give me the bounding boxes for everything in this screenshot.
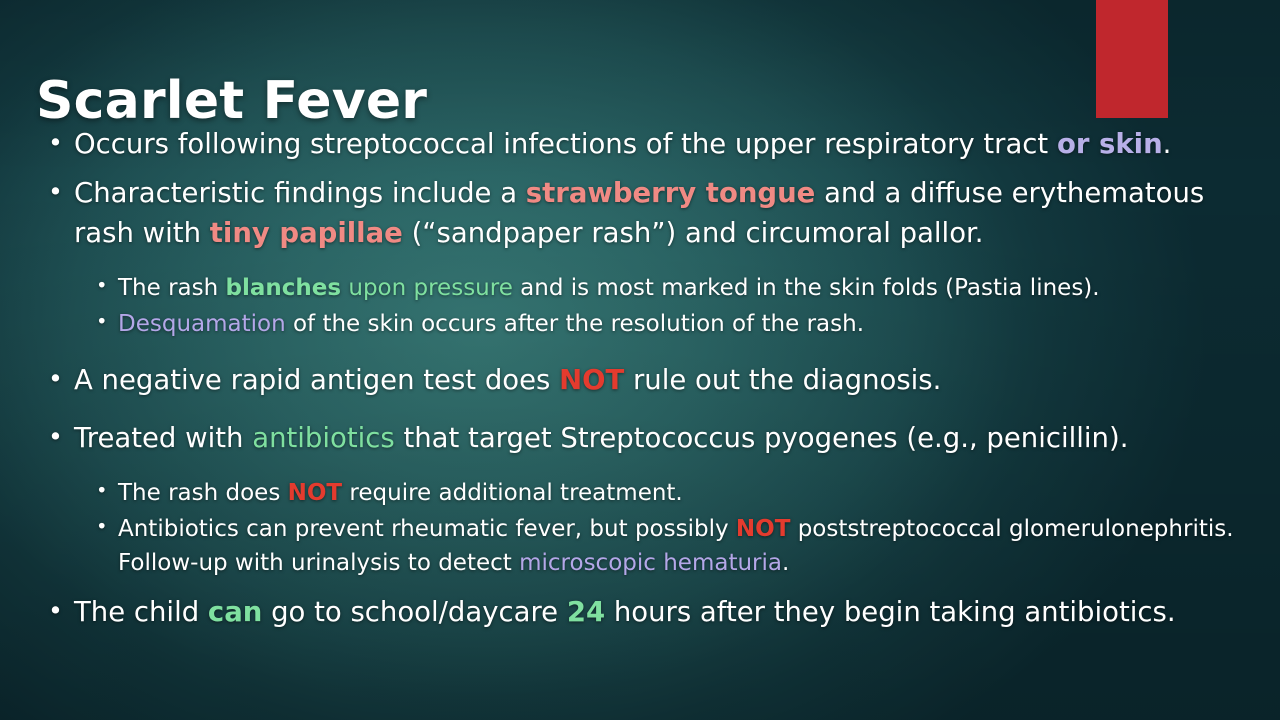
plain-text: require additional treatment. [342, 480, 683, 506]
plain-text: Characteristic findings include a [74, 177, 526, 209]
bullet-dot-icon: • [96, 513, 118, 542]
plain-text: hours after they begin taking antibiotic… [605, 596, 1175, 628]
highlighted-text: NOT [559, 364, 624, 396]
bullet-dot-icon: • [48, 592, 74, 629]
plain-text: A negative rapid antigen test does [74, 364, 559, 396]
spacer [34, 467, 1254, 477]
highlighted-text: 24 [567, 596, 605, 628]
bullet-dot-icon: • [48, 418, 74, 455]
bullet-dot-icon: • [48, 173, 74, 210]
bullet-item-level2: •Desquamation of the skin occurs after t… [34, 308, 1254, 342]
bullet-item-level1: •Characteristic findings include a straw… [34, 173, 1254, 254]
plain-text: go to school/daycare [262, 596, 566, 628]
highlighted-text: microscopic hematuria [519, 550, 782, 576]
bullet-text: The rash does NOT require additional tre… [118, 477, 1254, 511]
bullet-dot-icon: • [96, 272, 118, 301]
plain-text: The child [74, 596, 208, 628]
bullet-text: A negative rapid antigen test does NOT r… [74, 360, 1254, 401]
bullet-text: Characteristic findings include a strawb… [74, 173, 1254, 254]
highlighted-text: or skin [1057, 128, 1163, 160]
bullet-dot-icon: • [96, 477, 118, 506]
bullet-text: Treated with antibiotics that target Str… [74, 418, 1254, 459]
highlighted-text: can [208, 596, 262, 628]
plain-text: of the skin occurs after the resolution … [286, 311, 864, 337]
slide-body: •Occurs following streptococcal infectio… [34, 124, 1254, 641]
plain-text: rule out the diagnosis. [624, 364, 941, 396]
highlighted-text: NOT [288, 480, 343, 506]
highlighted-text: antibiotics [252, 422, 395, 454]
bullet-item-level2: •Antibiotics can prevent rheumatic fever… [34, 513, 1254, 581]
plain-text: (“sandpaper rash”) and circumoral pallor… [403, 217, 984, 249]
page-title: Scarlet Fever [36, 71, 427, 131]
bullet-text: The child can go to school/daycare 24 ho… [74, 592, 1254, 633]
bullet-dot-icon: • [96, 308, 118, 337]
spacer [34, 408, 1254, 418]
plain-text: The rash does [118, 480, 288, 506]
plain-text: Antibiotics can prevent rheumatic fever,… [118, 516, 736, 542]
accent-bar [1096, 0, 1168, 118]
slide: Scarlet Fever •Occurs following streptoc… [0, 0, 1280, 720]
bullet-text: Occurs following streptococcal infection… [74, 124, 1254, 165]
bullet-dot-icon: • [48, 360, 74, 397]
highlighted-text: blanches [226, 275, 342, 301]
highlighted-text: NOT [736, 516, 791, 542]
bullet-item-level1: •Occurs following streptococcal infectio… [34, 124, 1254, 165]
plain-text: Occurs following streptococcal infection… [74, 128, 1057, 160]
bullet-text: The rash blanches upon pressure and is m… [118, 272, 1254, 306]
bullet-item-level2: •The rash blanches upon pressure and is … [34, 272, 1254, 306]
highlighted-text: tiny papillae [210, 217, 403, 249]
bullet-item-level1: •A negative rapid antigen test does NOT … [34, 360, 1254, 401]
bullet-item-level1: •Treated with antibiotics that target St… [34, 418, 1254, 459]
highlighted-text: strawberry tongue [526, 177, 816, 209]
highlighted-text: upon pressure [348, 275, 512, 301]
plain-text: . [1163, 128, 1172, 160]
bullet-text: Antibiotics can prevent rheumatic fever,… [118, 513, 1254, 581]
bullet-item-level1: •The child can go to school/daycare 24 h… [34, 592, 1254, 633]
plain-text: that target Streptococcus pyogenes (e.g.… [395, 422, 1129, 454]
highlighted-text: Desquamation [118, 311, 286, 337]
spacer [34, 582, 1254, 592]
bullet-dot-icon: • [48, 124, 74, 161]
bullet-text: Desquamation of the skin occurs after th… [118, 308, 1254, 342]
plain-text: and is most marked in the skin folds (Pa… [513, 275, 1100, 301]
spacer [34, 262, 1254, 272]
plain-text: The rash [118, 275, 226, 301]
plain-text: . [782, 550, 789, 576]
spacer [34, 344, 1254, 360]
plain-text: Treated with [74, 422, 252, 454]
bullet-item-level2: •The rash does NOT require additional tr… [34, 477, 1254, 511]
